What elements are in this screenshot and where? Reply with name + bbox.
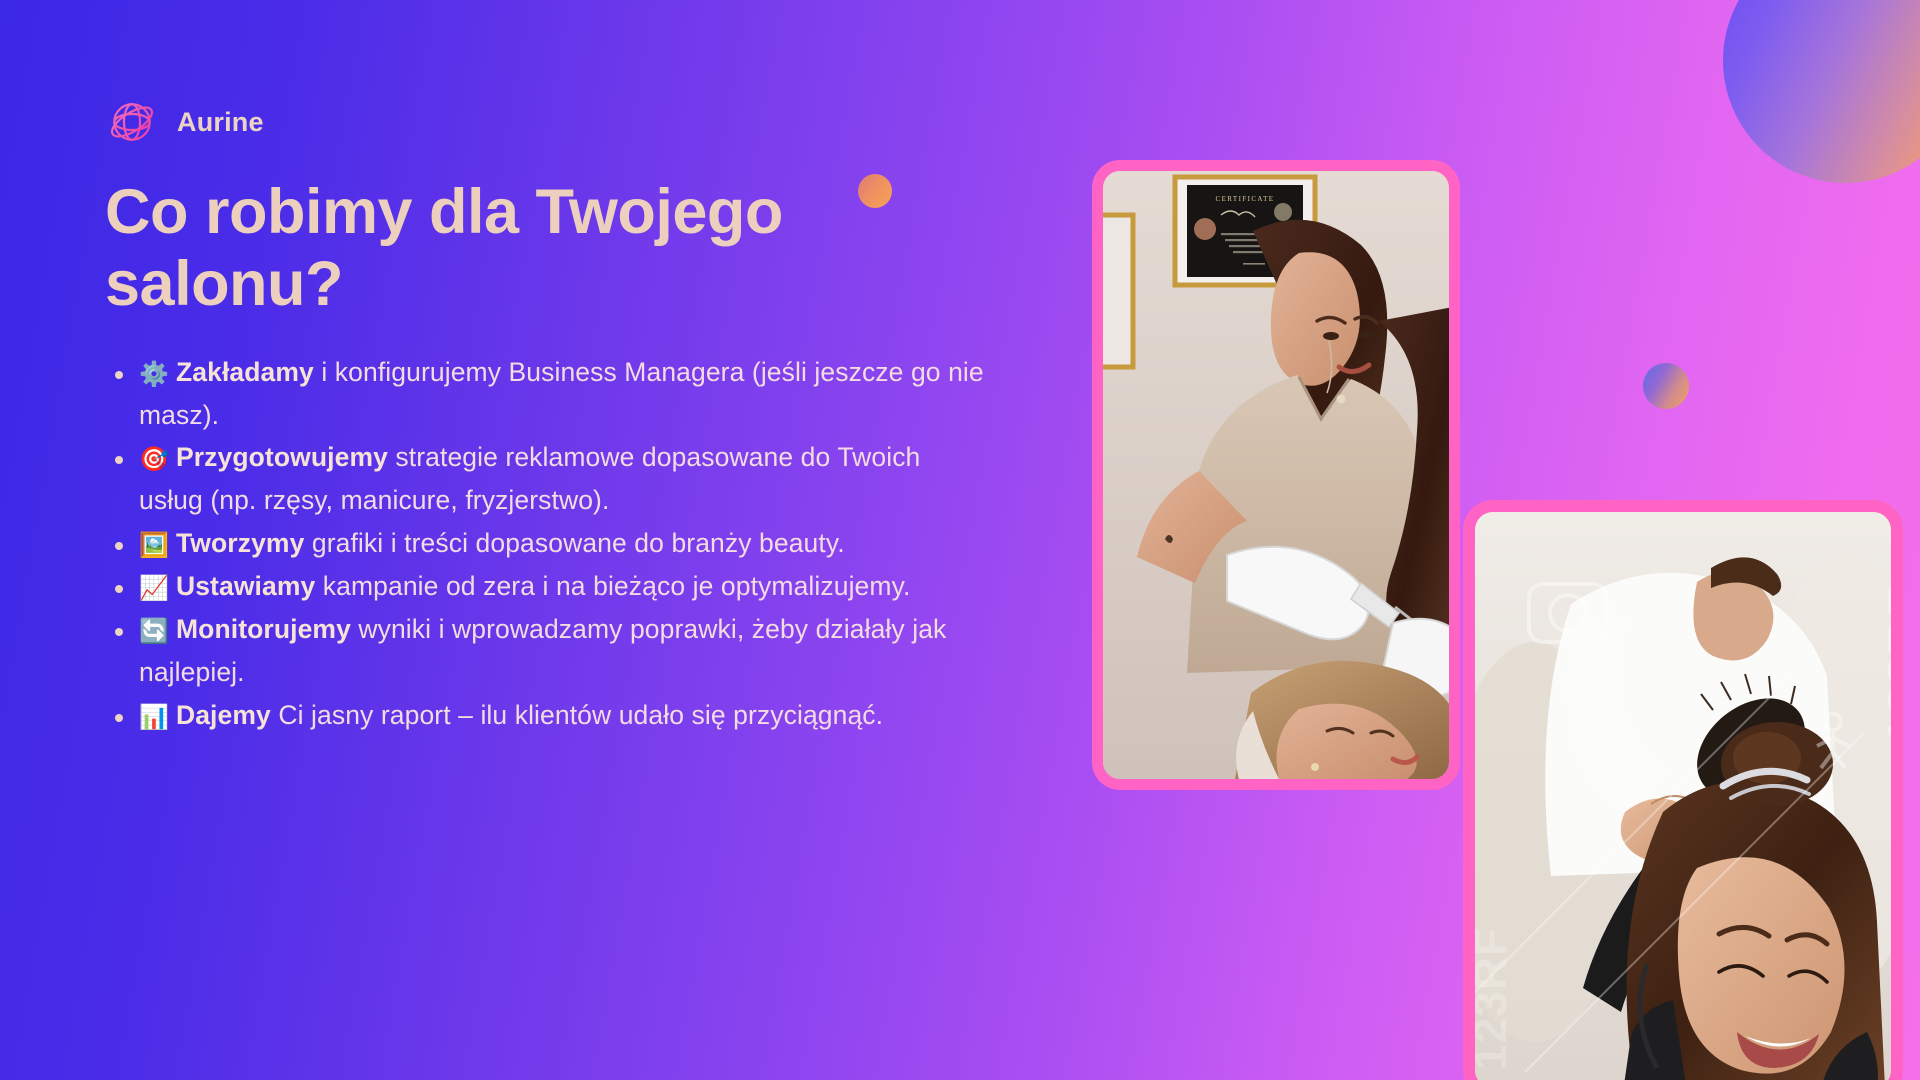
list-item-keyword: Dajemy bbox=[176, 700, 271, 730]
svg-text:CERTIFICATE: CERTIFICATE bbox=[1216, 195, 1275, 203]
diagonal-watermark-lines bbox=[1475, 672, 1865, 1072]
globe-orbit-icon bbox=[105, 95, 159, 149]
list-item-keyword: Zakładamy bbox=[176, 357, 314, 387]
photo-image: 123RF 123RF bbox=[1475, 512, 1891, 1080]
list-item: ⚙️Zakładamy i konfigurujemy Business Man… bbox=[105, 351, 985, 437]
medium-gradient-circle bbox=[1643, 363, 1689, 409]
list-item-keyword: Monitorujemy bbox=[176, 614, 351, 644]
slide-canvas: Aurine Co robimy dla Twojego salonu? ⚙️Z… bbox=[0, 0, 1920, 1080]
content-column: Aurine Co robimy dla Twojego salonu? ⚙️Z… bbox=[105, 95, 985, 737]
brand-name: Aurine bbox=[177, 107, 264, 138]
gear-emoji: ⚙️ bbox=[139, 360, 169, 388]
list-item: 🎯Przygotowujemy strategie reklamowe dopa… bbox=[105, 436, 985, 522]
list-item: 📊Dajemy Ci jasny raport – ilu klientów u… bbox=[105, 694, 985, 737]
list-item-keyword: Ustawiamy bbox=[176, 571, 315, 601]
chart-increasing-emoji: 📈 bbox=[139, 574, 169, 602]
list-item-text: Ci jasny raport – ilu klientów udało się… bbox=[271, 700, 883, 730]
list-item-keyword: Przygotowujemy bbox=[176, 442, 388, 472]
hair-styling-photo: 123RF 123RF bbox=[1463, 500, 1903, 1080]
list-item: 📈Ustawiamy kampanie od zera i na bieżąco… bbox=[105, 565, 985, 608]
photo-image: CERTIFICATE bbox=[1103, 171, 1449, 779]
list-item-text: kampanie od zera i na bieżąco je optymal… bbox=[315, 571, 910, 601]
dart-target-emoji: 🎯 bbox=[139, 445, 169, 473]
list-item-text: grafiki i treści dopasowane do branży be… bbox=[304, 528, 844, 558]
framed-picture-emoji: 🖼️ bbox=[139, 531, 169, 559]
list-item-keyword: Tworzymy bbox=[176, 528, 304, 558]
services-list: ⚙️Zakładamy i konfigurujemy Business Man… bbox=[105, 351, 985, 737]
list-item: 🔄Monitorujemy wyniki i wprowadzamy popra… bbox=[105, 608, 985, 694]
page-title: Co robimy dla Twojego salonu? bbox=[105, 177, 985, 321]
brand-lockup: Aurine bbox=[105, 95, 985, 149]
list-item: 🖼️Tworzymy grafiki i treści dopasowane d… bbox=[105, 522, 985, 565]
large-gradient-circle bbox=[1723, 0, 1920, 183]
cosmetology-treatment-photo: CERTIFICATE bbox=[1092, 160, 1460, 790]
bar-chart-emoji: 📊 bbox=[139, 703, 169, 731]
camera-watermark-icon bbox=[1523, 564, 1613, 654]
arrows-counterclockwise-emoji: 🔄 bbox=[139, 617, 169, 645]
